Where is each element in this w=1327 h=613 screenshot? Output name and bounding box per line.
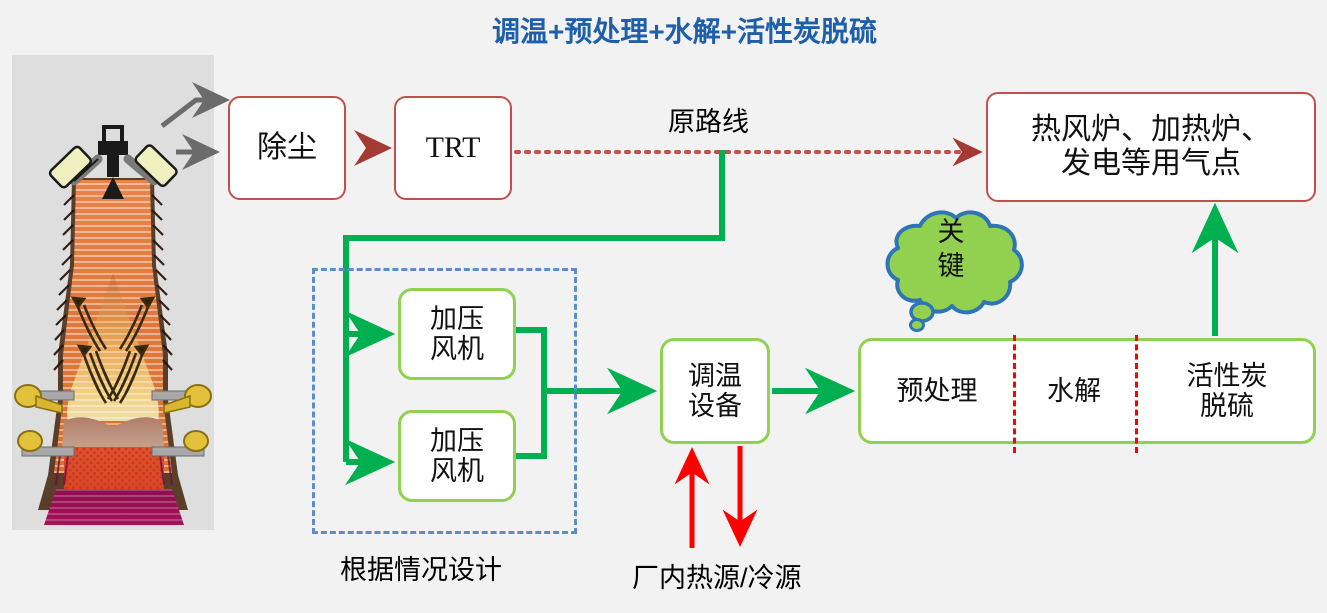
blast-furnace-image <box>12 55 214 530</box>
box-gas-use-points[interactable]: 热风炉、加热炉、 发电等用气点 <box>986 92 1316 202</box>
segment-hydrolysis[interactable]: 水解 <box>1013 341 1135 441</box>
label-plant-heat-cold-source: 厂内热源/冷源 <box>632 556 802 595</box>
label-design-as-needed: 根据情况设计 <box>340 548 502 587</box>
fan2-line-2: 风机 <box>430 456 484 486</box>
segment-carbon-labels: 活性炭 脱硫 <box>1187 361 1268 421</box>
box-process-train[interactable]: 预处理 水解 活性炭 脱硫 <box>858 338 1316 444</box>
fan1-line-1: 加压 <box>430 304 484 334</box>
temp-line-2: 设备 <box>688 391 742 421</box>
box-pressurizing-fan-1[interactable]: 加压 风机 <box>398 288 516 380</box>
box-dust-removal[interactable]: 除尘 <box>228 96 346 200</box>
segment-pretreatment[interactable]: 预处理 <box>861 341 1013 441</box>
box-trt-label: TRT <box>426 131 481 165</box>
segment-pretreatment-label: 预处理 <box>897 376 978 406</box>
box-temperature-control-equipment[interactable]: 调温 设备 <box>660 338 770 444</box>
box-gas-use-points-labels: 热风炉、加热炉、 发电等用气点 <box>1031 113 1271 180</box>
divider-pretreatment-hydrolysis <box>1013 335 1016 453</box>
page-title: 调温+预处理+水解+活性炭脱硫 <box>0 10 1327 50</box>
gas-points-line-1: 热风炉、加热炉、 <box>1031 113 1271 146</box>
temp-line-1: 调温 <box>688 361 742 391</box>
key-cloud-callout <box>876 204 1026 334</box>
box-dust-removal-label: 除尘 <box>257 131 317 165</box>
box-temperature-control-labels: 调温 设备 <box>688 361 742 421</box>
box-pressurizing-fan-2[interactable]: 加压 风机 <box>398 410 516 502</box>
box-trt[interactable]: TRT <box>394 96 512 200</box>
carbon-line-1: 活性炭 <box>1187 361 1268 391</box>
carbon-line-2: 脱硫 <box>1200 391 1254 421</box>
fan2-line-1: 加压 <box>430 426 484 456</box>
box-pressurizing-fan-1-labels: 加压 风机 <box>430 304 484 364</box>
segment-hydrolysis-label: 水解 <box>1047 376 1101 406</box>
segment-activated-carbon-desulfurization[interactable]: 活性炭 脱硫 <box>1135 341 1319 441</box>
label-original-route: 原路线 <box>668 100 749 139</box>
page-title-text: 调温+预处理+水解+活性炭脱硫 <box>450 10 877 50</box>
divider-hydrolysis-carbon <box>1135 335 1138 453</box>
diagram-canvas: 调温+预处理+水解+活性炭脱硫 <box>0 0 1327 613</box>
fan1-line-2: 风机 <box>430 334 484 364</box>
box-pressurizing-fan-2-labels: 加压 风机 <box>430 426 484 486</box>
gas-points-line-2: 发电等用气点 <box>1061 147 1241 180</box>
